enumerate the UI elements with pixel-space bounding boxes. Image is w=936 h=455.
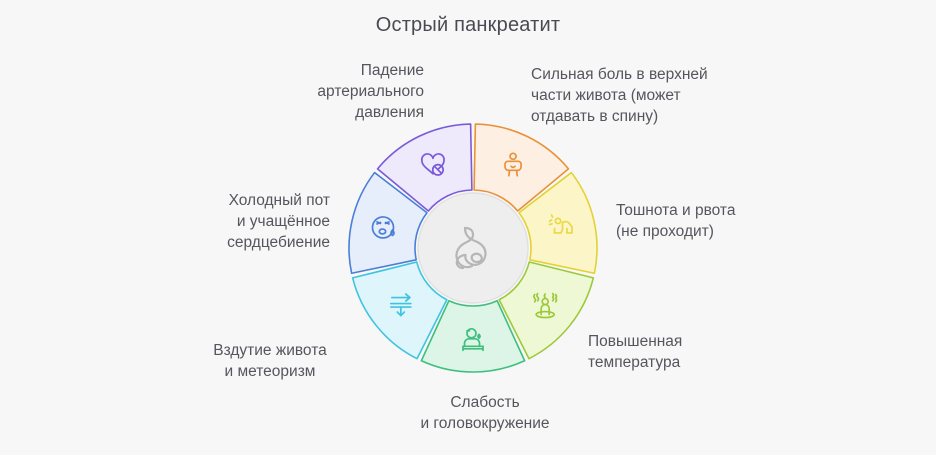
symptom-wheel-svg bbox=[348, 123, 598, 373]
segment-label-bloating: Вздутие живота и метеоризм bbox=[160, 340, 380, 382]
wheel-center-circle bbox=[418, 193, 528, 303]
infographic-canvas: Острый панкреатит Сильная боль в верхней… bbox=[0, 0, 936, 455]
page-title: Острый панкреатит bbox=[0, 14, 936, 37]
segment-label-fever: Повышенная температура bbox=[588, 331, 788, 373]
segment-label-pain: Сильная боль в верхней части живота (мож… bbox=[531, 64, 783, 127]
segment-label-nausea: Тошнота и рвота (не проходит) bbox=[616, 200, 826, 242]
segment-label-weakness: Слабость и головокружение bbox=[360, 392, 610, 434]
symptom-wheel bbox=[348, 123, 598, 373]
segment-label-pressure: Падение артериального давления bbox=[214, 60, 424, 123]
segment-label-sweat: Холодный пот и учащённое сердцебиение bbox=[150, 190, 330, 253]
